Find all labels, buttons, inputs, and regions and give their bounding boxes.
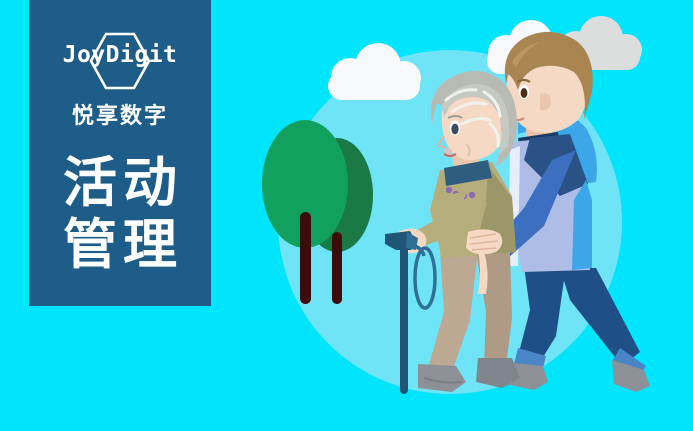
woman-eye-pupil (451, 124, 458, 135)
brand-logo: JoyDigit (40, 30, 200, 92)
page-title-line-2: 管理 (57, 214, 183, 276)
cane-shaft (400, 244, 408, 394)
title-panel: JoyDigit 悦享数字 活动 管理 (29, 0, 211, 306)
brand-name-cn: 悦享数字 (72, 98, 168, 130)
logo-wordmark: JoyDigit (40, 42, 200, 68)
poster-canvas: JoyDigit 悦享数字 活动 管理 (0, 0, 693, 431)
page-title-line-1: 活动 (57, 152, 183, 214)
page-title: 活动 管理 (57, 152, 183, 276)
man-eye-pupil (521, 88, 528, 98)
